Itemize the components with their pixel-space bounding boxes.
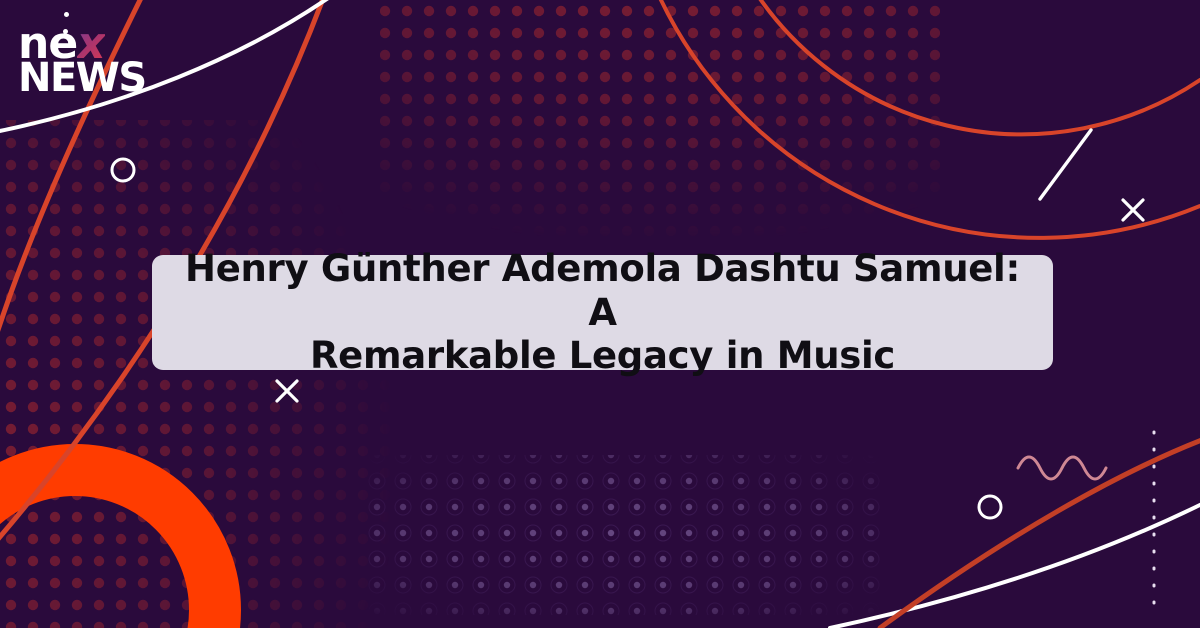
lavender-dot-grid-bottom bbox=[360, 455, 880, 615]
title-banner: Henry Günther Ademola Dashtu Samuel: A R… bbox=[152, 255, 1053, 370]
halftone-dots-top bbox=[380, 0, 940, 260]
logo-word-news: NEWS bbox=[18, 58, 148, 98]
social-card-canvas: nex NEWS Henry Günther Ademola Dashtu Sa… bbox=[0, 0, 1200, 628]
nex-news-logo[interactable]: nex NEWS bbox=[18, 22, 148, 98]
logo-dot-upper bbox=[64, 12, 69, 17]
page-title: Henry Günther Ademola Dashtu Samuel: A R… bbox=[176, 247, 1029, 378]
